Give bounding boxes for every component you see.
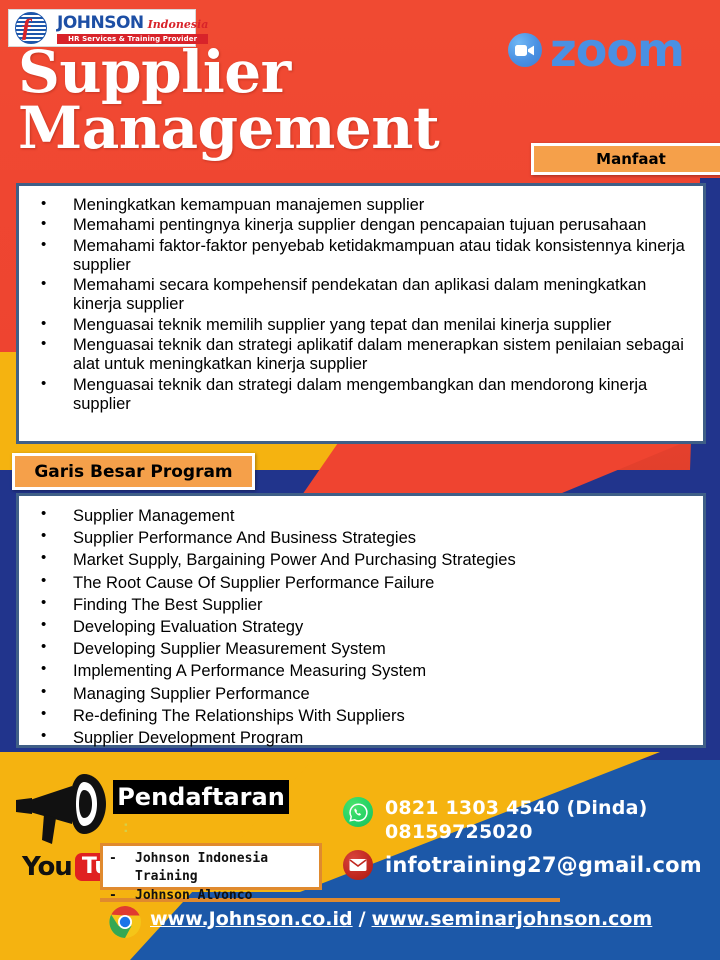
- whatsapp-number-2: 08159725020: [385, 821, 648, 845]
- whatsapp-icon: [343, 797, 373, 827]
- section-box-program: Supplier Management Supplier Performance…: [16, 493, 706, 748]
- trainer-names-box: - Johnson Indonesia Training - Johnson A…: [100, 843, 322, 890]
- youtube-text-you: You: [22, 852, 72, 882]
- trainer-name: Johnson Indonesia Training: [135, 850, 313, 887]
- list-item: Supplier Performance And Business Strate…: [33, 527, 689, 549]
- registration-badge: Pendaftaran: [113, 780, 289, 814]
- list-item: Implementing A Performance Measuring Sys…: [33, 660, 689, 682]
- list-item: The Root Cause Of Supplier Performance F…: [33, 572, 689, 594]
- manfaat-list: Meningkatkan kemampuan manajemen supplie…: [19, 186, 703, 414]
- list-item: Menguasai teknik dan strategi dalam meng…: [33, 376, 689, 415]
- logo-company-name: JOHNSON: [57, 13, 144, 33]
- list-item: Memahami faktor-faktor penyebab ketidakm…: [33, 237, 689, 276]
- trainer-row: - Johnson Alvonco: [109, 887, 313, 905]
- list-item: Re-defining The Relationships With Suppl…: [33, 705, 689, 727]
- trainer-row: - Johnson Indonesia Training: [109, 850, 313, 887]
- colon-mark: :: [123, 820, 129, 834]
- title-line-2: Management: [18, 100, 538, 156]
- whatsapp-contact[interactable]: 0821 1303 4540 (Dinda) 08159725020: [343, 797, 648, 844]
- list-item: Meningkatkan kemampuan manajemen supplie…: [33, 196, 689, 215]
- chrome-icon: [108, 905, 142, 939]
- email-contact[interactable]: infotraining27@gmail.com: [343, 850, 702, 880]
- whatsapp-number-1: 0821 1303 4540 (Dinda): [385, 797, 648, 821]
- website-row[interactable]: www.Johnson.co.id / www.seminarjohnson.c…: [150, 908, 652, 930]
- gmail-envelope-icon: [343, 850, 373, 880]
- list-item: Memahami secara kompehensif pendekatan d…: [33, 276, 689, 315]
- website-link-primary[interactable]: www.Johnson.co.id: [150, 908, 353, 930]
- list-item: Managing Supplier Performance: [33, 683, 689, 705]
- list-item: Finding The Best Supplier: [33, 594, 689, 616]
- website-separator: /: [359, 908, 366, 930]
- list-item: Market Supply, Bargaining Power And Purc…: [33, 549, 689, 571]
- program-list: Supplier Management Supplier Performance…: [19, 496, 703, 749]
- website-link-secondary[interactable]: www.seminarjohnson.com: [372, 908, 653, 930]
- list-item: Memahami pentingnya kinerja supplier den…: [33, 216, 689, 235]
- megaphone-icon: [14, 770, 124, 850]
- section-badge-garis-besar-program: Garis Besar Program: [12, 453, 255, 490]
- trainer-dash: -: [109, 850, 135, 887]
- list-item: Menguasai teknik memilih supplier yang t…: [33, 316, 689, 335]
- poster-root: ƒ JOHNSON Indonesia HR Services & Traini…: [0, 0, 720, 960]
- list-item: Developing Evaluation Strategy: [33, 616, 689, 638]
- section-badge-manfaat: Manfaat: [531, 143, 720, 175]
- email-address: infotraining27@gmail.com: [385, 852, 702, 878]
- logo-country-name: Indonesia: [148, 18, 209, 31]
- title-line-1: Supplier: [18, 44, 538, 100]
- list-item: Supplier Management: [33, 505, 689, 527]
- page-title: Supplier Management: [18, 44, 538, 157]
- trainer-dash: -: [109, 887, 135, 905]
- section-box-manfaat: Meningkatkan kemampuan manajemen supplie…: [16, 183, 706, 444]
- trainer-name: Johnson Alvonco: [135, 887, 252, 905]
- zoom-wordmark: zoom: [550, 32, 684, 69]
- list-item: Menguasai teknik dan strategi aplikatif …: [33, 336, 689, 375]
- list-item: Supplier Development Program: [33, 727, 689, 749]
- list-item: Developing Supplier Measurement System: [33, 638, 689, 660]
- whatsapp-numbers: 0821 1303 4540 (Dinda) 08159725020: [385, 797, 648, 844]
